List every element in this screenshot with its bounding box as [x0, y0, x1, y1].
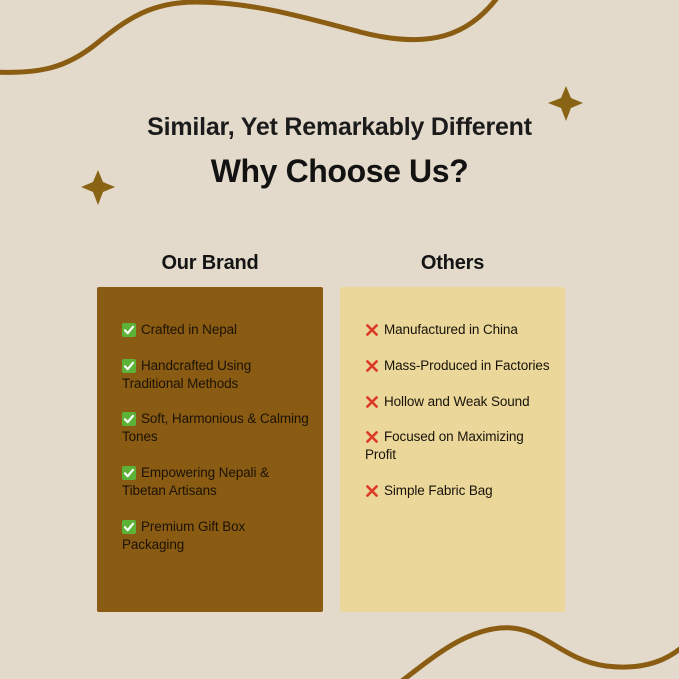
list-item-label: Simple Fabric Bag: [384, 483, 493, 498]
wavy-line-top: [0, 0, 500, 72]
list-item: Hollow and Weak Sound: [365, 393, 551, 411]
list-item-label: Mass-Produced in Factories: [384, 358, 549, 373]
list-item-label: Hollow and Weak Sound: [384, 394, 530, 409]
check-mark-icon: [122, 323, 136, 337]
column-our-brand: Our Brand Crafted in Nepal: [97, 252, 323, 612]
infographic-canvas: Similar, Yet Remarkably Different Why Ch…: [0, 0, 679, 679]
list-item-label: Crafted in Nepal: [141, 322, 237, 337]
list-item: Soft, Harmonious & Calming Tones: [122, 410, 309, 446]
list-item: Empowering Nepali & Tibetan Artisans: [122, 464, 309, 500]
list-item: Handcrafted Using Traditional Methods: [122, 357, 309, 393]
list-item-label: Focused on Maximizing Profit: [365, 429, 524, 462]
check-mark-icon: [122, 412, 136, 426]
page-title: Why Choose Us?: [0, 154, 679, 189]
heading-block: Similar, Yet Remarkably Different Why Ch…: [0, 114, 679, 189]
cross-mark-icon: [365, 430, 379, 444]
cross-mark-icon: [365, 395, 379, 409]
column-header-our-brand: Our Brand: [97, 252, 323, 274]
cross-mark-icon: [365, 484, 379, 498]
check-mark-icon: [122, 520, 136, 534]
list-item-label: Empowering Nepali & Tibetan Artisans: [122, 465, 269, 498]
column-others: Others Manufactured in China: [340, 252, 565, 612]
page-subtitle: Similar, Yet Remarkably Different: [0, 114, 679, 142]
list-item: Premium Gift Box Packaging: [122, 518, 309, 554]
feature-list-others: Manufactured in China Mass-Produced in F…: [365, 321, 551, 500]
list-item-label: Premium Gift Box Packaging: [122, 519, 245, 552]
list-item-label: Handcrafted Using Traditional Methods: [122, 358, 251, 391]
list-item: Manufactured in China: [365, 321, 551, 339]
list-item: Mass-Produced in Factories: [365, 357, 551, 375]
card-others: Manufactured in China Mass-Produced in F…: [340, 287, 565, 612]
column-header-others: Others: [340, 252, 565, 274]
comparison-columns: Our Brand Crafted in Nepal: [0, 252, 679, 622]
list-item-label: Soft, Harmonious & Calming Tones: [122, 411, 309, 444]
cross-mark-icon: [365, 323, 379, 337]
cross-mark-icon: [365, 359, 379, 373]
card-our-brand: Crafted in Nepal Handcrafted Using Tradi…: [97, 287, 323, 612]
list-item: Focused on Maximizing Profit: [365, 428, 551, 464]
list-item-label: Manufactured in China: [384, 322, 518, 337]
feature-list-our-brand: Crafted in Nepal Handcrafted Using Tradi…: [122, 321, 309, 553]
check-mark-icon: [122, 359, 136, 373]
list-item: Crafted in Nepal: [122, 321, 309, 339]
wavy-line-bottom: [390, 628, 679, 679]
check-mark-icon: [122, 466, 136, 480]
list-item: Simple Fabric Bag: [365, 482, 551, 500]
